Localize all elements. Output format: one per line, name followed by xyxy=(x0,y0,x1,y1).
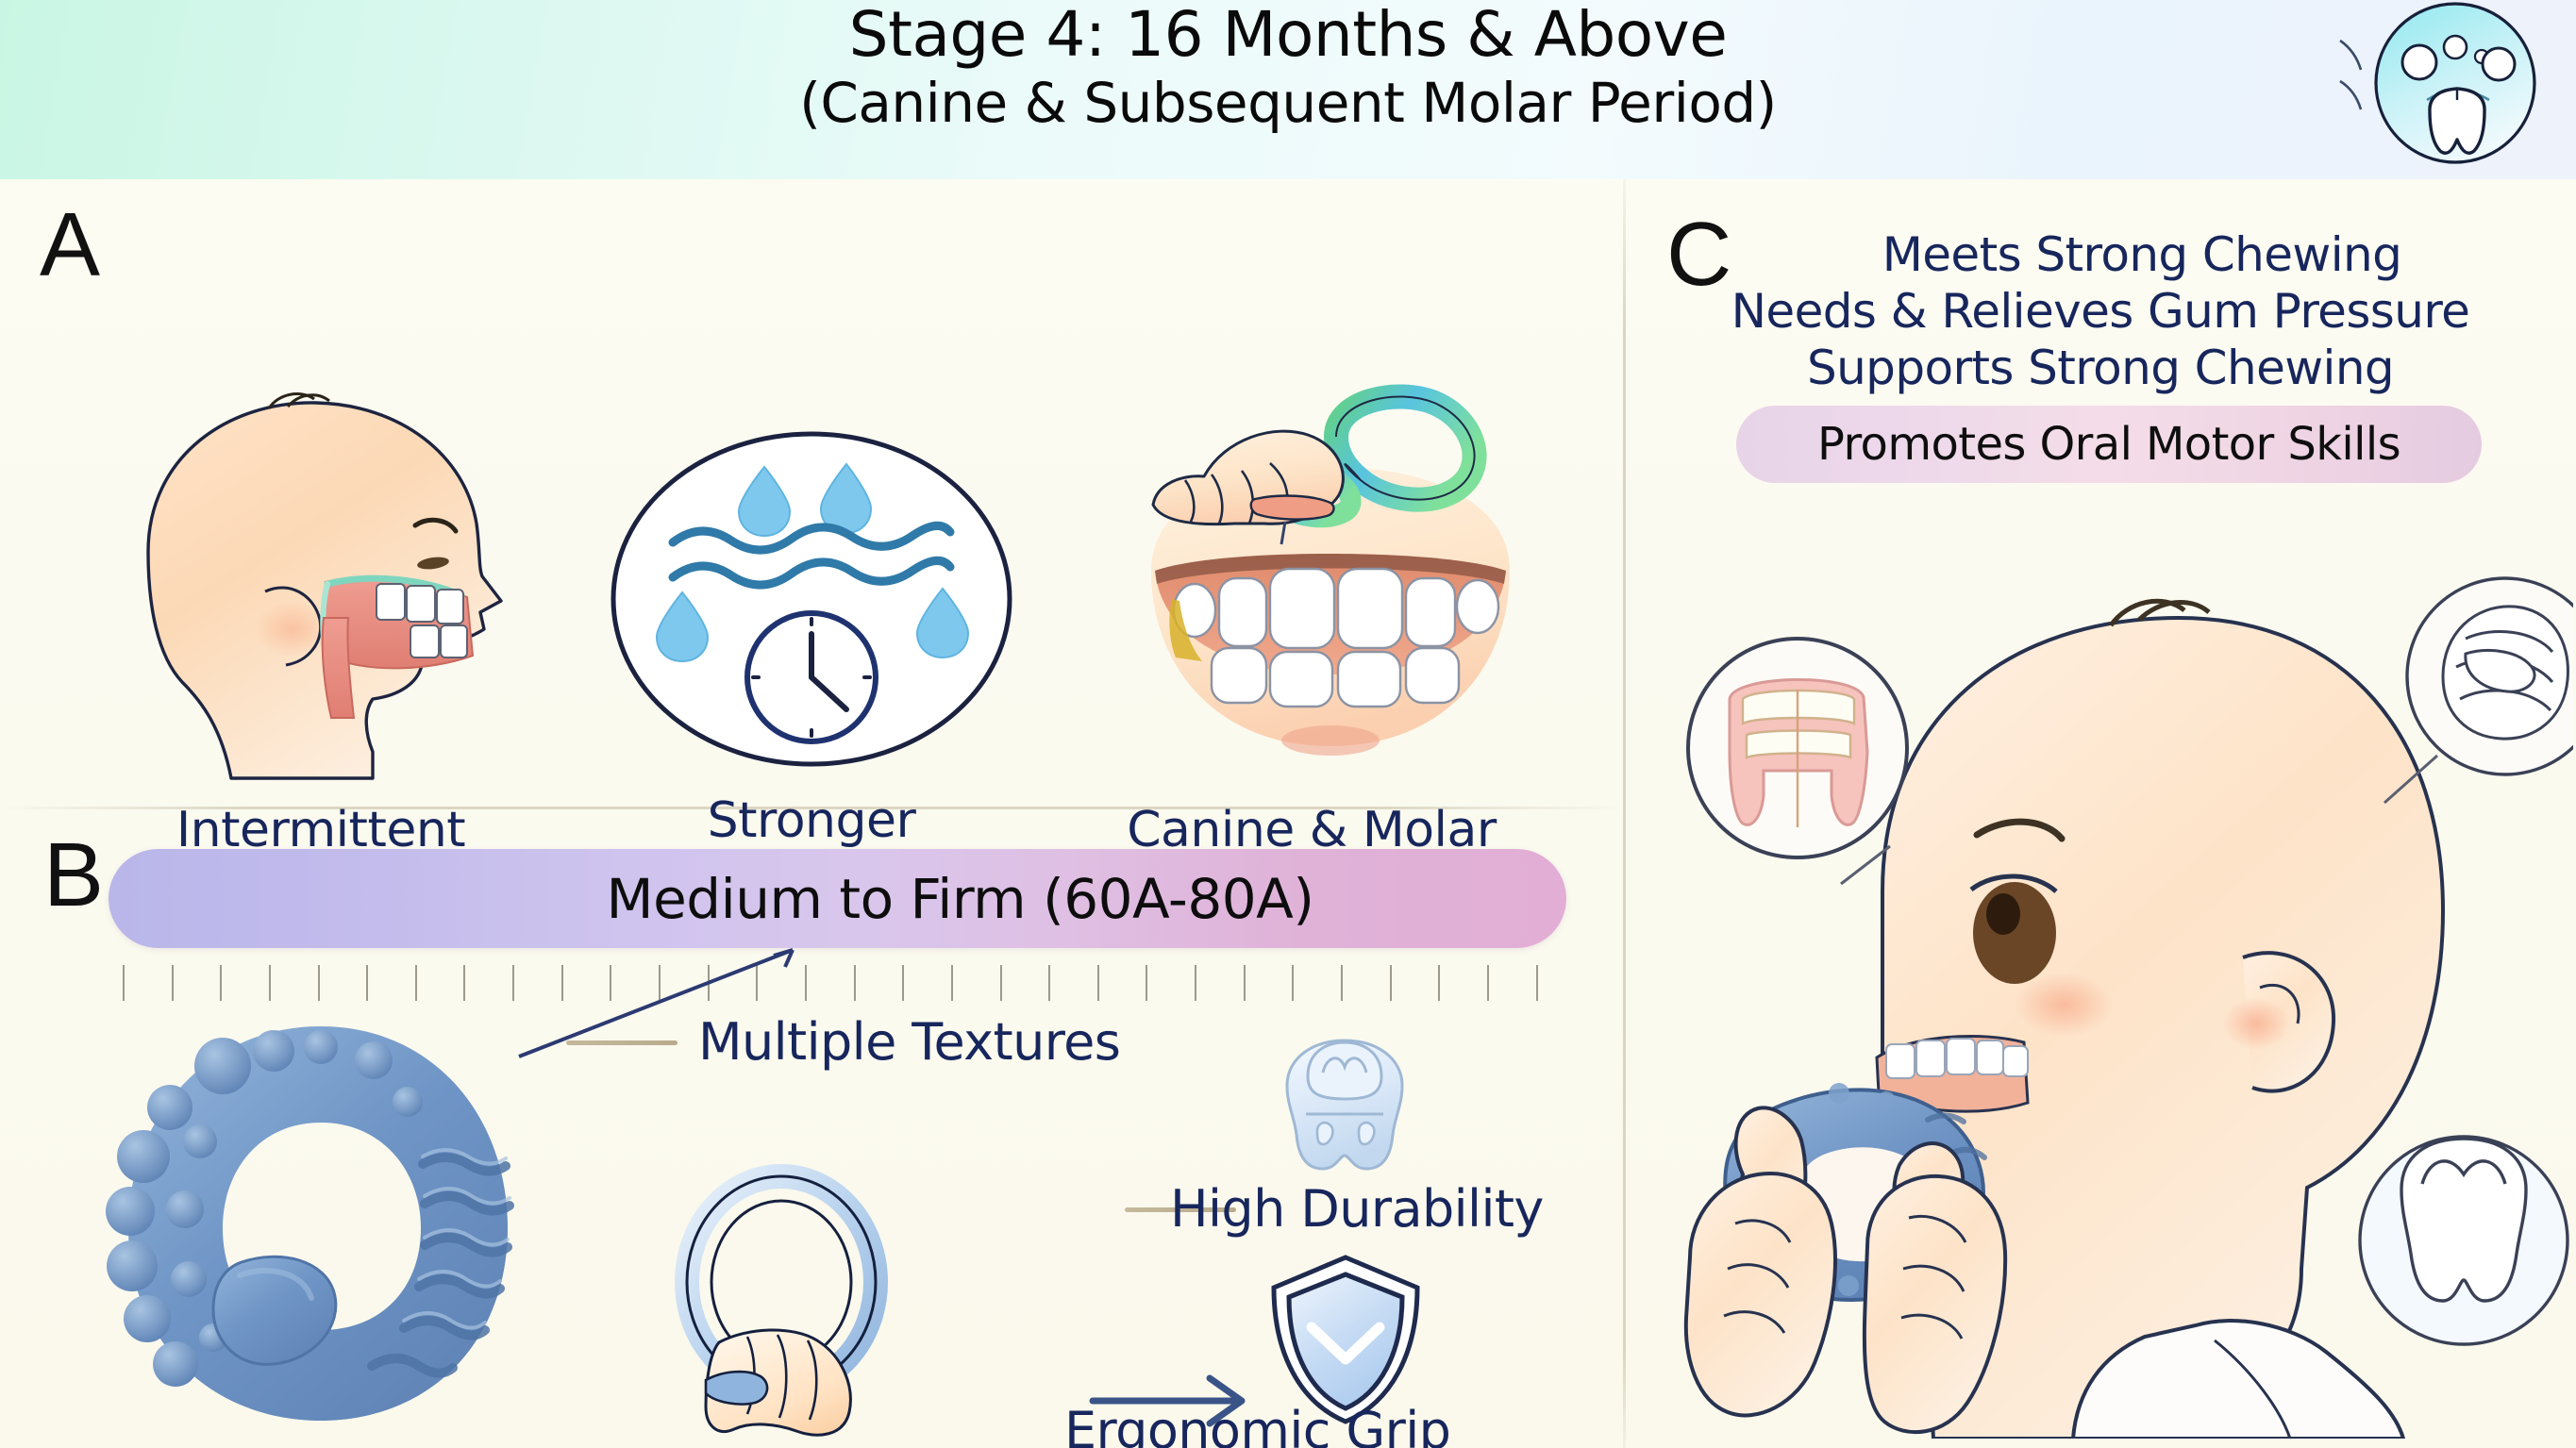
infographic-root: Stage 4: 16 Months & Above (Canine & Sub… xyxy=(0,0,2576,1448)
panel-a: Intermittent Discomfort Stronger Chewing… xyxy=(0,179,1623,807)
tooth-in-circle-icon xyxy=(2314,0,2550,191)
label-ergonomic-grip: Ergonomic Grip xyxy=(1064,1401,1450,1448)
panel-b: Medium to Firm (60A-80A) xyxy=(0,807,1623,1448)
drool-droplets-clock-icon xyxy=(599,415,1024,783)
hardness-label: Medium to Firm (60A-80A) xyxy=(109,849,1566,948)
panel-c: Meets Strong Chewing Needs & Relieves Gu… xyxy=(1625,179,2576,1448)
baby-chewing-teether-icon xyxy=(1630,514,2573,1439)
mouth-teeth-teether-ring-icon xyxy=(1113,382,1547,788)
molar-tooth-callout-icon xyxy=(2360,1137,2568,1344)
baby-head-profile-teeth-icon xyxy=(90,382,618,788)
blue-textured-teether-ring-icon xyxy=(38,1009,623,1434)
status-badge-oral-motor-skills: Promotes Oral Motor Skills xyxy=(1736,406,2482,483)
label-high-durability: High Durability xyxy=(1170,1179,1544,1239)
label-multiple-textures: Multiple Textures xyxy=(698,1012,1120,1072)
molar-tooth-icon xyxy=(1264,1031,1425,1191)
panel-c-line-3: Supports Strong Chewing xyxy=(1625,344,2576,391)
gum-palate-callout-icon xyxy=(1688,639,1907,884)
panel-c-line-2: Needs & Relieves Gum Pressure xyxy=(1625,288,2576,335)
hand-gripping-ring-icon xyxy=(661,1156,1066,1439)
panel-c-line-1: Meets Strong Chewing xyxy=(1625,231,2576,278)
hardness-scale-ticks xyxy=(123,965,1538,1001)
dash-connector-textures-icon xyxy=(566,1040,677,1045)
header-banner: Stage 4: 16 Months & Above (Canine & Sub… xyxy=(0,0,2576,179)
title-line-1: Stage 4: 16 Months & Above xyxy=(0,0,2576,66)
title-line-2: (Canine & Subsequent Molar Period) xyxy=(0,66,2576,130)
page-title: Stage 4: 16 Months & Above (Canine & Sub… xyxy=(0,0,2576,130)
